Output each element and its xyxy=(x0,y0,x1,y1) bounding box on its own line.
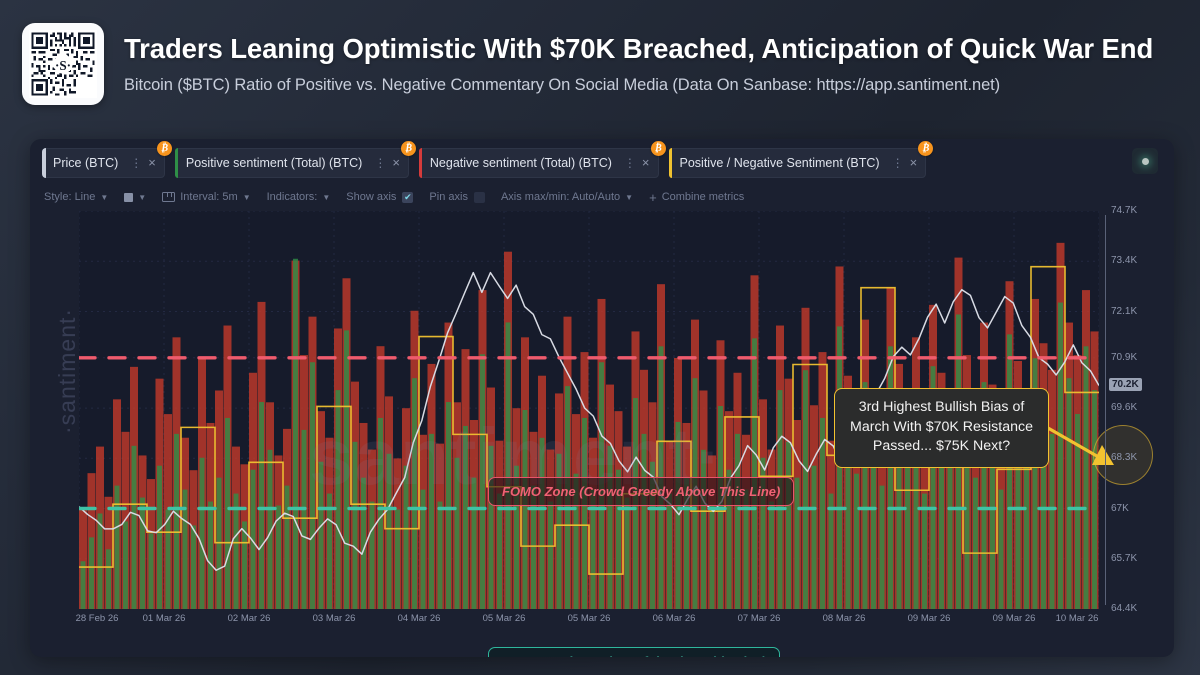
metric-tab-label: Positive / Negative Sentiment (BTC) xyxy=(680,156,880,170)
show-axis-checkbox[interactable]: ✔ xyxy=(402,192,413,203)
tab-menu-icon[interactable]: ⋮ xyxy=(892,157,902,169)
bitcoin-badge-icon: ₿ xyxy=(401,141,416,156)
x-axis-tick: 02 Mar 26 xyxy=(228,613,271,624)
y-axis-tick: 65.7K xyxy=(1111,553,1137,564)
x-axis-tick: 06 Mar 26 xyxy=(653,613,696,624)
bitcoin-badge-icon: ₿ xyxy=(918,141,933,156)
color-selector[interactable]: ▼ xyxy=(124,193,146,202)
chart-controls-bar: Style: Line ▼ ▼ Interval: 5m ▼ Indicator… xyxy=(44,188,760,206)
tab-menu-icon[interactable]: ⋮ xyxy=(130,157,140,169)
qr-code-icon: ·S· xyxy=(29,30,97,98)
plus-icon: + xyxy=(649,191,657,204)
pin-axis-label: Pin axis xyxy=(429,191,468,203)
y-axis-line xyxy=(1105,215,1106,605)
bitcoin-badge-icon: ₿ xyxy=(651,141,666,156)
close-icon[interactable]: × xyxy=(910,156,918,169)
axis-minmax-selector[interactable]: Axis max/min: Auto/Auto ▼ xyxy=(501,191,633,203)
live-indicator-button[interactable] xyxy=(1132,148,1158,174)
x-axis-tick: 09 Mar 26 xyxy=(908,613,951,624)
metric-tab-label: Price (BTC) xyxy=(53,156,118,170)
chart-annotation-callout: 3rd Highest Bullish Bias of March With $… xyxy=(834,388,1049,468)
santiment-qr-logo: ·S· xyxy=(22,23,104,105)
x-axis-tick: 05 Mar 26 xyxy=(568,613,611,624)
indicators-selector[interactable]: Indicators: ▼ xyxy=(267,191,331,203)
santiment-watermark: ·santiment· xyxy=(54,308,81,434)
chart-panel: Price (BTC) ⋮ × ₿ Positive sentiment (To… xyxy=(30,139,1174,657)
indicators-label: Indicators: xyxy=(267,191,318,203)
show-axis-label: Show axis xyxy=(346,191,396,203)
chevron-down-icon: ▼ xyxy=(243,193,251,202)
live-dot-icon xyxy=(1142,158,1149,165)
style-label: Style: Line xyxy=(44,191,95,203)
axis-minmax-label: Axis max/min: Auto/Auto xyxy=(501,191,620,203)
close-icon[interactable]: × xyxy=(642,156,650,169)
x-axis-tick: 03 Mar 26 xyxy=(313,613,356,624)
show-axis-toggle[interactable]: Show axis ✔ xyxy=(346,191,413,203)
color-swatch-icon xyxy=(124,193,133,202)
y-axis-tick: 64.4K xyxy=(1111,603,1137,614)
x-axis: 28 Feb 2601 Mar 2602 Mar 2603 Mar 2604 M… xyxy=(79,613,1099,631)
page-header: ·S· Traders Leaning Optimistic With $70K… xyxy=(0,0,1200,127)
tab-accent-bar xyxy=(669,148,673,178)
x-axis-tick: 09 Mar 26 xyxy=(993,613,1036,624)
pin-axis-toggle[interactable]: Pin axis xyxy=(429,191,485,203)
y-axis-tick: 67K xyxy=(1111,503,1129,514)
metric-tab-positive-sentiment[interactable]: Positive sentiment (Total) (BTC) ⋮ × ₿ xyxy=(175,148,409,178)
x-axis-tick: 04 Mar 26 xyxy=(398,613,441,624)
header-text-block: Traders Leaning Optimistic With $70K Bre… xyxy=(124,32,1153,95)
chevron-down-icon: ▼ xyxy=(100,193,108,202)
chevron-down-icon: ▼ xyxy=(138,193,146,202)
ruler-icon xyxy=(162,192,175,202)
pin-axis-checkbox[interactable] xyxy=(474,192,485,203)
y-axis-tick: 68.3K xyxy=(1111,452,1137,463)
close-icon[interactable]: × xyxy=(392,156,400,169)
y-axis-tick: 72.1K xyxy=(1111,306,1137,317)
combine-metrics-button[interactable]: + Combine metrics xyxy=(649,191,744,204)
style-selector[interactable]: Style: Line ▼ xyxy=(44,191,108,203)
page-subtitle: Bitcoin ($BTC) Ratio of Positive vs. Neg… xyxy=(124,76,1153,95)
page-title: Traders Leaning Optimistic With $70K Bre… xyxy=(124,34,1153,64)
x-axis-tick: 07 Mar 26 xyxy=(738,613,781,624)
tab-accent-bar xyxy=(42,148,46,178)
chevron-down-icon: ▼ xyxy=(322,193,330,202)
chevron-down-icon: ▼ xyxy=(625,193,633,202)
current-price-tick: 70.2K xyxy=(1109,378,1142,391)
metric-tab-strip: Price (BTC) ⋮ × ₿ Positive sentiment (To… xyxy=(30,139,1174,186)
y-axis-tick: 70.9K xyxy=(1111,352,1137,363)
bitcoin-badge-icon: ₿ xyxy=(157,141,172,156)
metric-tab-pos-neg-ratio[interactable]: Positive / Negative Sentiment (BTC) ⋮ × … xyxy=(669,148,927,178)
tab-accent-bar xyxy=(175,148,179,178)
interval-selector[interactable]: Interval: 5m ▼ xyxy=(162,191,250,203)
x-axis-tick: 01 Mar 26 xyxy=(143,613,186,624)
interval-label: Interval: 5m xyxy=(180,191,237,203)
fud-zone-label: FUD Zone (Crowd Fearful Below This Line) xyxy=(488,647,780,657)
metric-tab-label: Positive sentiment (Total) (BTC) xyxy=(186,156,362,170)
x-axis-tick: 10 Mar 26 xyxy=(1056,613,1099,624)
x-axis-tick: 05 Mar 26 xyxy=(483,613,526,624)
tab-menu-icon[interactable]: ⋮ xyxy=(624,157,634,169)
y-axis-tick: 74.7K xyxy=(1111,205,1137,216)
svg-text:·S·: ·S· xyxy=(55,58,71,73)
y-axis-tick: 69.6K xyxy=(1111,402,1137,413)
tab-accent-bar xyxy=(419,148,423,178)
close-icon[interactable]: × xyxy=(148,156,156,169)
fomo-zone-label: FOMO Zone (Crowd Greedy Above This Line) xyxy=(488,477,794,506)
metric-tab-price[interactable]: Price (BTC) ⋮ × ₿ xyxy=(42,148,165,178)
metric-tab-label: Negative sentiment (Total) (BTC) xyxy=(430,156,612,170)
x-axis-tick: 08 Mar 26 xyxy=(823,613,866,624)
x-axis-tick: 28 Feb 26 xyxy=(76,613,119,624)
metric-tab-negative-sentiment[interactable]: Negative sentiment (Total) (BTC) ⋮ × ₿ xyxy=(419,148,659,178)
tab-menu-icon[interactable]: ⋮ xyxy=(374,157,384,169)
y-axis-tick: 73.4K xyxy=(1111,255,1137,266)
combine-metrics-label: Combine metrics xyxy=(662,191,745,203)
y-axis: 74.7K73.4K72.1K70.9K69.6K68.3K67K65.7K64… xyxy=(1102,211,1160,609)
